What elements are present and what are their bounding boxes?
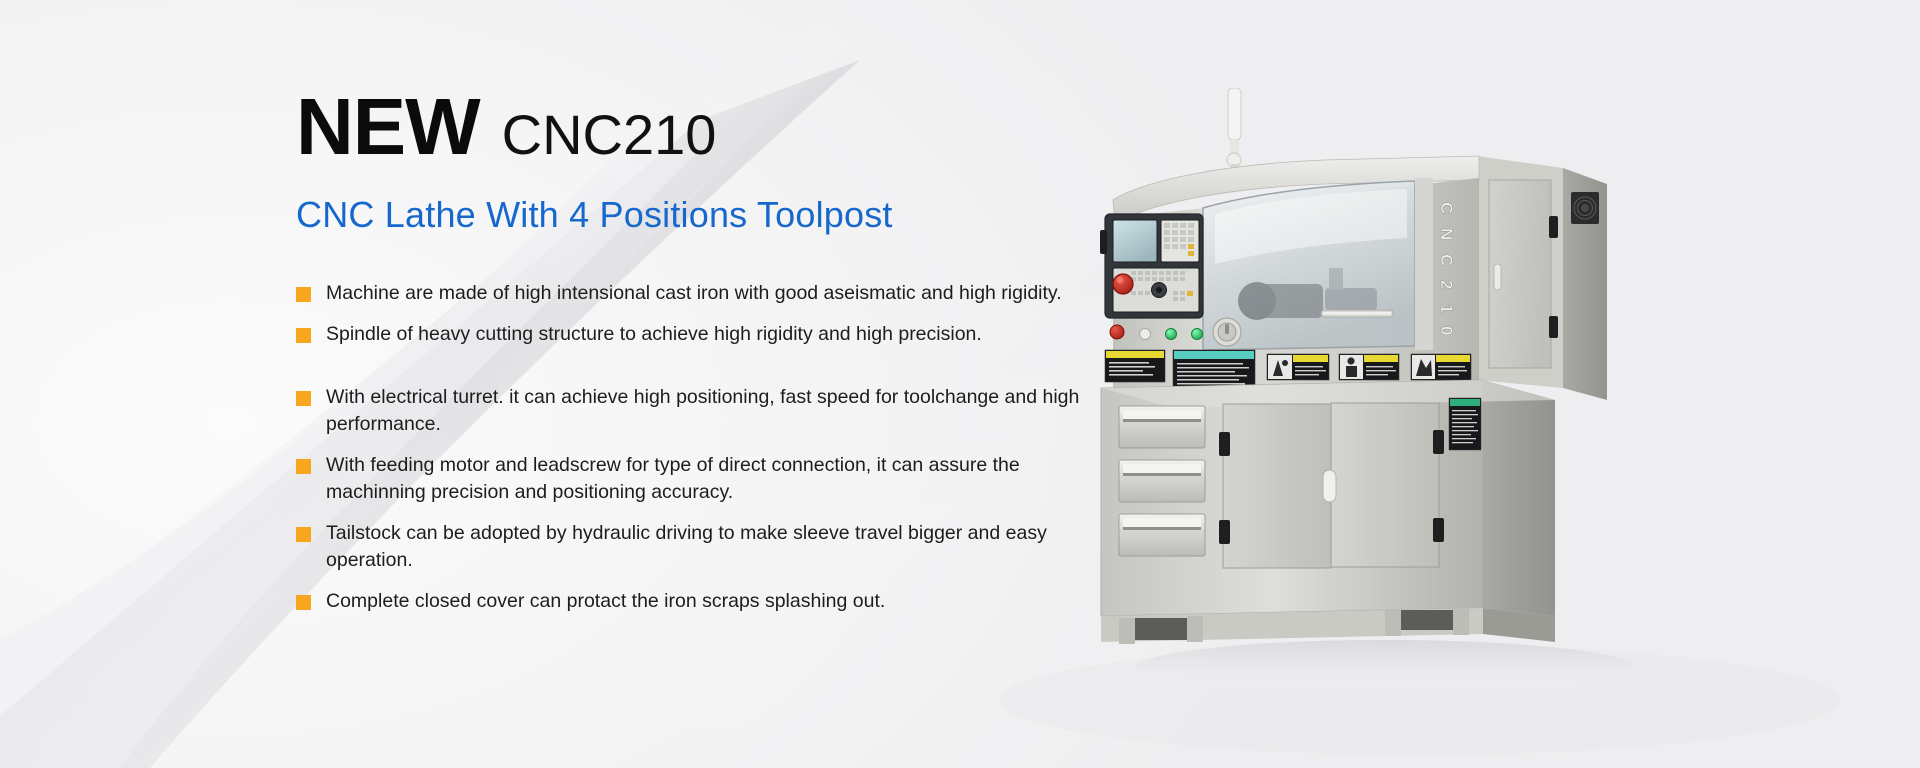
machine-work-light xyxy=(1227,88,1241,174)
feature-text: Tailstock can be adopted by hydraulic dr… xyxy=(326,520,1086,574)
window-door-handle[interactable] xyxy=(1321,310,1393,317)
list-item: Machine are made of high intensional cas… xyxy=(296,280,1096,307)
title-new-word: NEW xyxy=(296,84,480,170)
cnc-display-screen xyxy=(1113,220,1157,262)
list-item: Complete closed cover can protact the ir… xyxy=(296,588,1096,615)
stop-button[interactable] xyxy=(1110,325,1124,339)
reset-button[interactable] xyxy=(1140,329,1151,340)
floor-shadow xyxy=(1135,640,1635,696)
page-title: NEW CNC210 xyxy=(296,84,1116,170)
warning-label-pictogram xyxy=(1339,354,1399,380)
cnc-lathe-product-image: C N C 2 1 0 xyxy=(1085,88,1645,708)
list-item: With feeding motor and leadscrew for typ… xyxy=(296,452,1096,506)
door-hinge xyxy=(1549,216,1558,238)
cabinet-door-handle[interactable] xyxy=(1494,264,1501,290)
warning-label-pictogram xyxy=(1411,354,1471,380)
cabinet-door-right[interactable] xyxy=(1331,403,1439,567)
warning-label xyxy=(1105,350,1165,382)
svg-text:N: N xyxy=(1437,228,1456,240)
drawer-stack xyxy=(1119,406,1205,556)
feature-text: Spindle of heavy cutting structure to ac… xyxy=(326,321,982,348)
feature-text: With feeding motor and leadscrew for typ… xyxy=(326,452,1086,506)
banner-text-column: NEW CNC210 CNC Lathe With 4 Positions To… xyxy=(296,84,1116,629)
bullet-square-icon xyxy=(296,328,311,343)
bullet-square-icon xyxy=(296,287,311,302)
cnc-control-panel[interactable] xyxy=(1100,214,1203,318)
product-banner: NEW CNC210 CNC Lathe With 4 Positions To… xyxy=(0,0,1920,768)
feature-text: With electrical turret. it can achieve h… xyxy=(326,384,1086,438)
bullet-square-icon xyxy=(296,391,311,406)
page-subtitle: CNC Lathe With 4 Positions Toolpost xyxy=(296,194,1116,236)
bullet-square-icon xyxy=(296,459,311,474)
bullet-square-icon xyxy=(296,595,311,610)
drawer[interactable] xyxy=(1119,406,1205,448)
svg-text:C: C xyxy=(1437,254,1456,266)
feature-text: Complete closed cover can protact the ir… xyxy=(326,588,885,615)
list-item: With electrical turret. it can achieve h… xyxy=(296,384,1096,438)
warning-label-pictogram xyxy=(1267,354,1329,380)
base-cabinet xyxy=(1101,380,1555,644)
title-model-number: CNC210 xyxy=(502,92,717,178)
feature-list: Machine are made of high intensional cas… xyxy=(296,280,1096,615)
drawer[interactable] xyxy=(1119,460,1205,502)
door-hinge xyxy=(1433,430,1444,454)
door-hinge xyxy=(1433,518,1444,542)
svg-text:C: C xyxy=(1437,202,1456,214)
door-hinge xyxy=(1219,432,1230,456)
door-hinge xyxy=(1549,316,1558,338)
fan-grille-icon xyxy=(1571,192,1599,224)
key-switch[interactable] xyxy=(1213,318,1241,346)
drawer[interactable] xyxy=(1119,514,1205,556)
svg-text:0: 0 xyxy=(1437,326,1456,335)
svg-text:2: 2 xyxy=(1437,280,1456,289)
window-frame-post xyxy=(1415,178,1433,350)
run-indicator-lamp xyxy=(1192,329,1203,340)
spec-plate-label xyxy=(1449,398,1481,450)
cabinet-double-doors[interactable] xyxy=(1219,403,1444,568)
svg-text:1: 1 xyxy=(1437,304,1456,313)
bullet-square-icon xyxy=(296,527,311,542)
feature-text: Machine are made of high intensional cas… xyxy=(326,280,1062,307)
electrical-cabinet xyxy=(1477,156,1607,400)
list-item: Spindle of heavy cutting structure to ac… xyxy=(296,321,1096,348)
emergency-stop-button[interactable] xyxy=(1113,274,1133,294)
door-hinge xyxy=(1219,520,1230,544)
cabinet-handle[interactable] xyxy=(1323,470,1336,502)
power-indicator-lamp xyxy=(1166,329,1177,340)
list-item: Tailstock can be adopted by hydraulic dr… xyxy=(296,520,1096,574)
cabinet-door-left[interactable] xyxy=(1223,404,1331,568)
